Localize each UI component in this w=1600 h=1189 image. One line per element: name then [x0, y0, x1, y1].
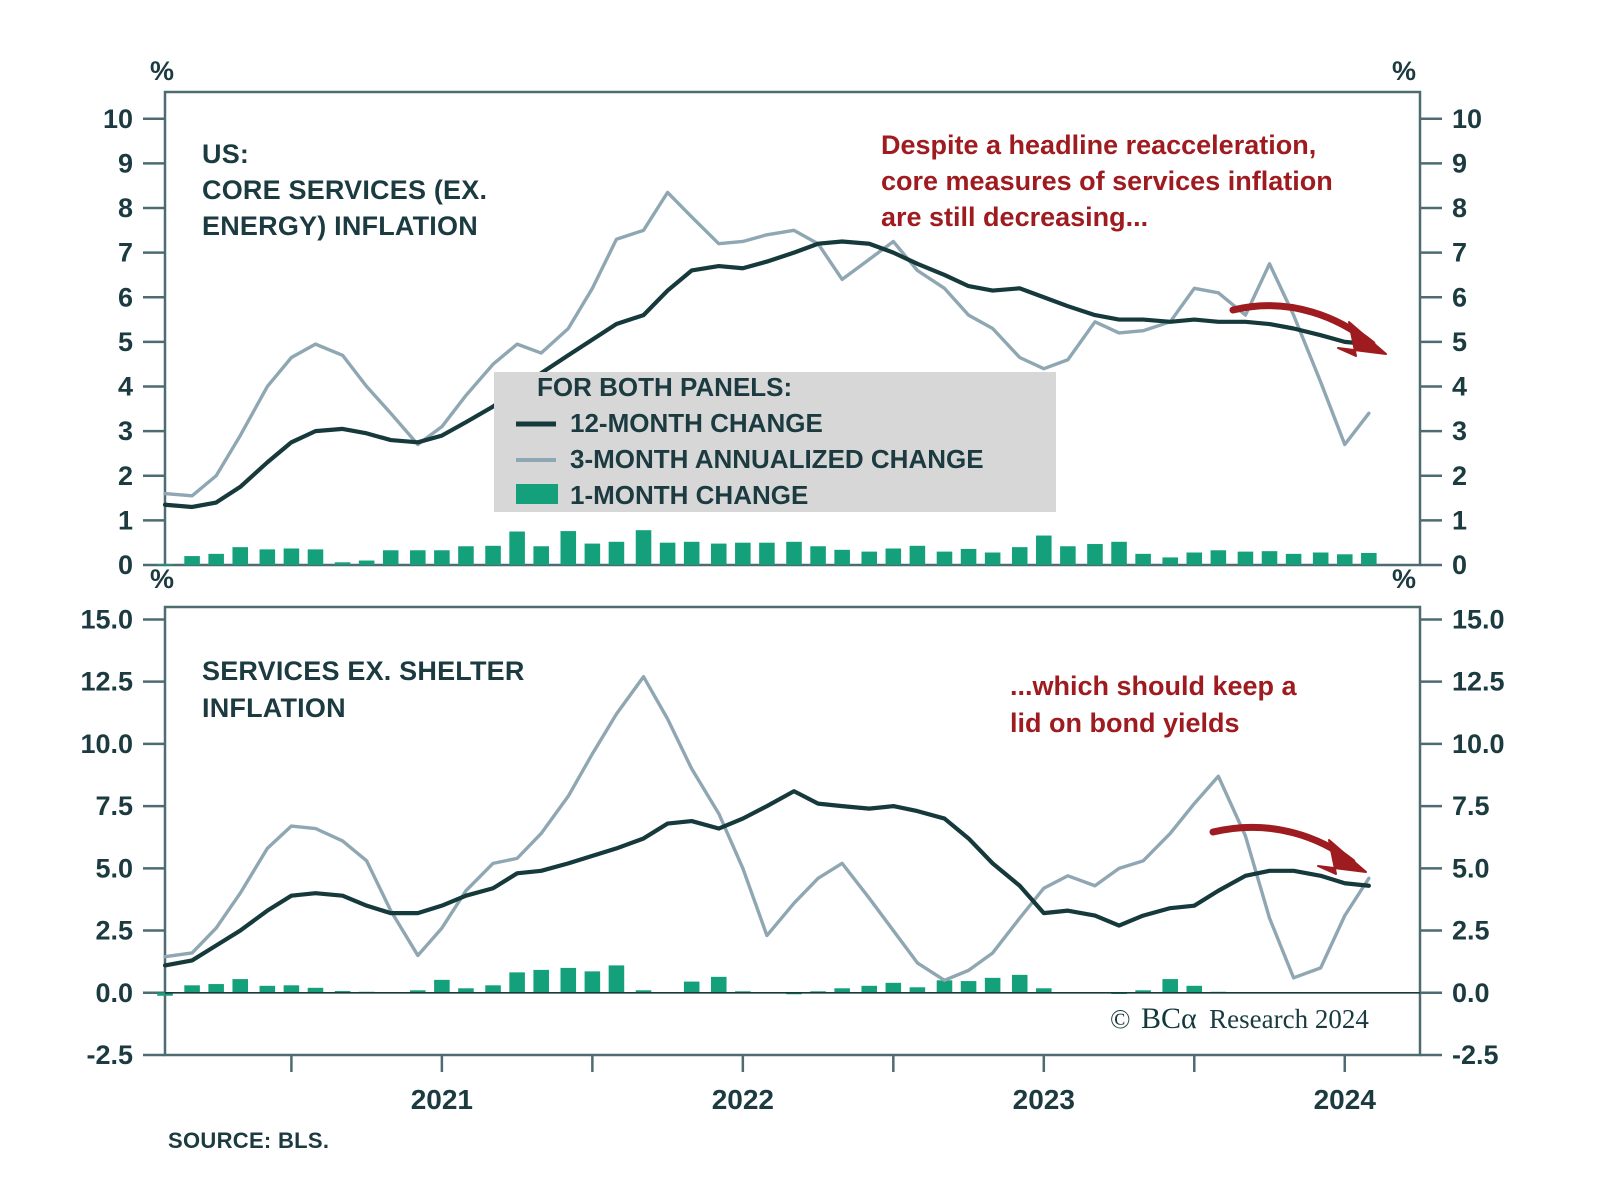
bar-1-month-change — [985, 978, 1001, 993]
y-tick-label-right: 15.0 — [1452, 604, 1505, 634]
y-tick-label-right: 1 — [1452, 505, 1467, 535]
bar-1-month-change — [684, 982, 700, 993]
bar-1-month-change — [533, 546, 549, 565]
y-tick-label-left: -2.5 — [86, 1040, 133, 1070]
bar-1-month-change — [585, 544, 601, 565]
y-tick-label-left: 5 — [118, 327, 133, 357]
bar-1-month-change — [485, 546, 501, 565]
bar-1-month-change — [910, 546, 926, 565]
bar-1-month-change — [636, 530, 652, 565]
copyright-brand: BCα — [1141, 1002, 1197, 1035]
bar-1-month-change — [509, 972, 525, 992]
bar-1-month-change — [509, 532, 525, 565]
copyright-symbol: © — [1110, 1004, 1131, 1034]
bar-1-month-change — [284, 985, 300, 992]
bar-1-month-change — [533, 970, 549, 993]
bar-1-month-change — [1187, 986, 1203, 993]
legend-item-label: 3-MONTH ANNUALIZED CHANGE — [570, 444, 984, 474]
y-tick-label-left: 12.5 — [80, 667, 133, 697]
y-tick-label-left: 9 — [118, 148, 133, 178]
bar-1-month-change — [1286, 554, 1302, 565]
bar-1-month-change — [861, 552, 877, 565]
y-tick-label-right: 10.0 — [1452, 729, 1505, 759]
legend-marker-swatch — [516, 484, 558, 504]
bar-1-month-change — [834, 550, 850, 565]
source-label: SOURCE: BLS. — [168, 1128, 329, 1153]
annotation-line: ...which should keep a — [1010, 671, 1298, 701]
bar-1-month-change — [711, 544, 727, 565]
bar-1-month-change — [561, 968, 577, 993]
bar-1-month-change — [985, 553, 1001, 565]
y-tick-label-left: 7.5 — [95, 791, 133, 821]
y-tick-label-right: 6 — [1452, 282, 1467, 312]
bottom-right-unit-label: % — [1392, 564, 1416, 594]
bar-1-month-change — [609, 965, 625, 992]
x-axis-label-2023: 2023 — [1013, 1084, 1075, 1115]
bar-1-month-change — [1238, 552, 1254, 565]
bar-1-month-change — [1211, 550, 1227, 565]
bar-1-month-change — [1262, 551, 1278, 565]
bar-1-month-change — [1087, 544, 1103, 565]
legend-item-label: 12-MONTH CHANGE — [570, 408, 823, 438]
bar-1-month-change — [961, 981, 977, 993]
y-tick-label-left: 15.0 — [80, 604, 133, 634]
legend-item-label: 1-MONTH CHANGE — [570, 480, 808, 510]
panel-title-line: US: — [202, 139, 249, 169]
bar-1-month-change — [208, 984, 224, 993]
y-tick-label-left: 3 — [118, 416, 133, 446]
copyright-rest: Research 2024 — [1209, 1004, 1369, 1034]
dual-panel-inflation-chart: % % 001122334455667788991010 US:CORE SER… — [0, 0, 1600, 1189]
y-tick-label-left: 6 — [118, 282, 133, 312]
y-tick-label-left: 1 — [118, 505, 133, 535]
bar-1-month-change — [886, 548, 902, 565]
bar-1-month-change — [910, 987, 926, 992]
shared-legend: FOR BOTH PANELS: 12-MONTH CHANGE3-MONTH … — [494, 372, 1056, 512]
bar-1-month-change — [861, 986, 877, 993]
y-tick-label-right: 7 — [1452, 238, 1467, 268]
panel-title-line: CORE SERVICES (EX. — [202, 175, 487, 205]
top-right-unit-label: % — [1392, 56, 1416, 86]
bar-1-month-change — [308, 549, 324, 565]
bar-1-month-change — [937, 552, 953, 565]
y-tick-label-right: 0 — [1452, 550, 1467, 580]
copyright-line: © BCα Research 2024 — [1110, 1002, 1369, 1035]
bar-1-month-change — [458, 546, 474, 565]
bar-1-month-change — [232, 547, 248, 565]
y-tick-label-left: 4 — [118, 372, 133, 402]
y-tick-label-right: 12.5 — [1452, 667, 1505, 697]
bar-1-month-change — [1361, 553, 1377, 565]
bar-1-month-change — [1135, 554, 1151, 565]
bar-1-month-change — [684, 542, 700, 565]
y-tick-label-left: 0.0 — [95, 978, 133, 1008]
bar-1-month-change — [561, 531, 577, 565]
chart-page: % % 001122334455667788991010 US:CORE SER… — [0, 0, 1600, 1189]
bar-1-month-change — [359, 561, 375, 565]
bar-1-month-change — [711, 977, 727, 993]
bar-1-month-change — [410, 550, 426, 565]
bar-1-month-change — [1012, 975, 1028, 993]
y-tick-label-right: -2.5 — [1452, 1040, 1499, 1070]
bar-1-month-change — [759, 543, 775, 565]
bar-1-month-change — [485, 985, 501, 992]
x-axis-label-2021: 2021 — [411, 1084, 473, 1115]
bar-1-month-change — [184, 985, 200, 992]
y-tick-label-right: 4 — [1452, 372, 1467, 402]
y-tick-label-right: 7.5 — [1452, 791, 1490, 821]
bar-1-month-change — [260, 986, 276, 993]
bar-1-month-change — [232, 979, 248, 993]
y-tick-label-right: 3 — [1452, 416, 1467, 446]
bar-1-month-change — [1036, 536, 1052, 565]
y-tick-label-right: 2 — [1452, 461, 1467, 491]
bar-1-month-change — [434, 980, 450, 993]
bar-1-month-change — [609, 542, 625, 565]
y-tick-label-left: 2.5 — [95, 916, 133, 946]
bar-1-month-change — [383, 550, 399, 565]
bar-1-month-change — [1012, 547, 1028, 565]
bar-1-month-change — [1187, 553, 1203, 565]
x-axis-label-2022: 2022 — [712, 1084, 774, 1115]
y-tick-label-left: 10 — [103, 104, 133, 134]
y-tick-label-right: 9 — [1452, 148, 1467, 178]
bar-1-month-change — [1111, 542, 1127, 565]
annotation-line: core measures of services inflation — [881, 166, 1333, 196]
annotation-line: lid on bond yields — [1010, 708, 1240, 738]
bar-1-month-change — [1337, 554, 1353, 565]
y-tick-label-right: 2.5 — [1452, 916, 1490, 946]
bar-1-month-change — [208, 554, 224, 565]
y-tick-label-left: 8 — [118, 193, 133, 223]
bar-1-month-change — [585, 971, 601, 992]
y-tick-label-right: 10 — [1452, 104, 1482, 134]
annotation-line: Despite a headline reacceleration, — [881, 130, 1316, 160]
y-tick-label-left: 5.0 — [95, 853, 133, 883]
y-tick-label-left: 0 — [118, 550, 133, 580]
bar-1-month-change — [260, 549, 276, 565]
bar-1-month-change — [1162, 557, 1178, 565]
bar-1-month-change — [1162, 979, 1178, 993]
bar-1-month-change — [961, 549, 977, 565]
panel-title-line: ENERGY) INFLATION — [202, 211, 478, 241]
bar-1-month-change — [335, 562, 351, 565]
x-axis-label-2024: 2024 — [1314, 1084, 1377, 1115]
y-tick-label-right: 5.0 — [1452, 853, 1490, 883]
y-tick-label-left: 2 — [118, 461, 133, 491]
bar-1-month-change — [810, 546, 826, 565]
bottom-left-unit-label: % — [150, 564, 174, 594]
y-tick-label-left: 7 — [118, 238, 133, 268]
panel-title-line: INFLATION — [202, 693, 346, 723]
bar-1-month-change — [284, 548, 300, 565]
y-tick-label-right: 8 — [1452, 193, 1467, 223]
y-tick-label-right: 0.0 — [1452, 978, 1490, 1008]
y-tick-label-left: 10.0 — [80, 729, 133, 759]
bar-1-month-change — [434, 550, 450, 565]
bar-1-month-change — [184, 556, 200, 565]
bar-1-month-change — [1060, 546, 1076, 565]
panel-title-line: SERVICES EX. SHELTER — [202, 656, 525, 686]
bar-1-month-change — [886, 983, 902, 993]
bar-1-month-change — [660, 543, 676, 565]
y-tick-label-right: 5 — [1452, 327, 1467, 357]
annotation-line: are still decreasing... — [881, 202, 1148, 232]
bar-1-month-change — [1313, 553, 1329, 565]
bar-1-month-change — [786, 542, 802, 565]
bar-1-month-change — [735, 543, 751, 565]
bar-1-month-change — [937, 980, 953, 992]
legend-title: FOR BOTH PANELS: — [537, 372, 792, 402]
top-left-unit-label: % — [150, 56, 174, 86]
